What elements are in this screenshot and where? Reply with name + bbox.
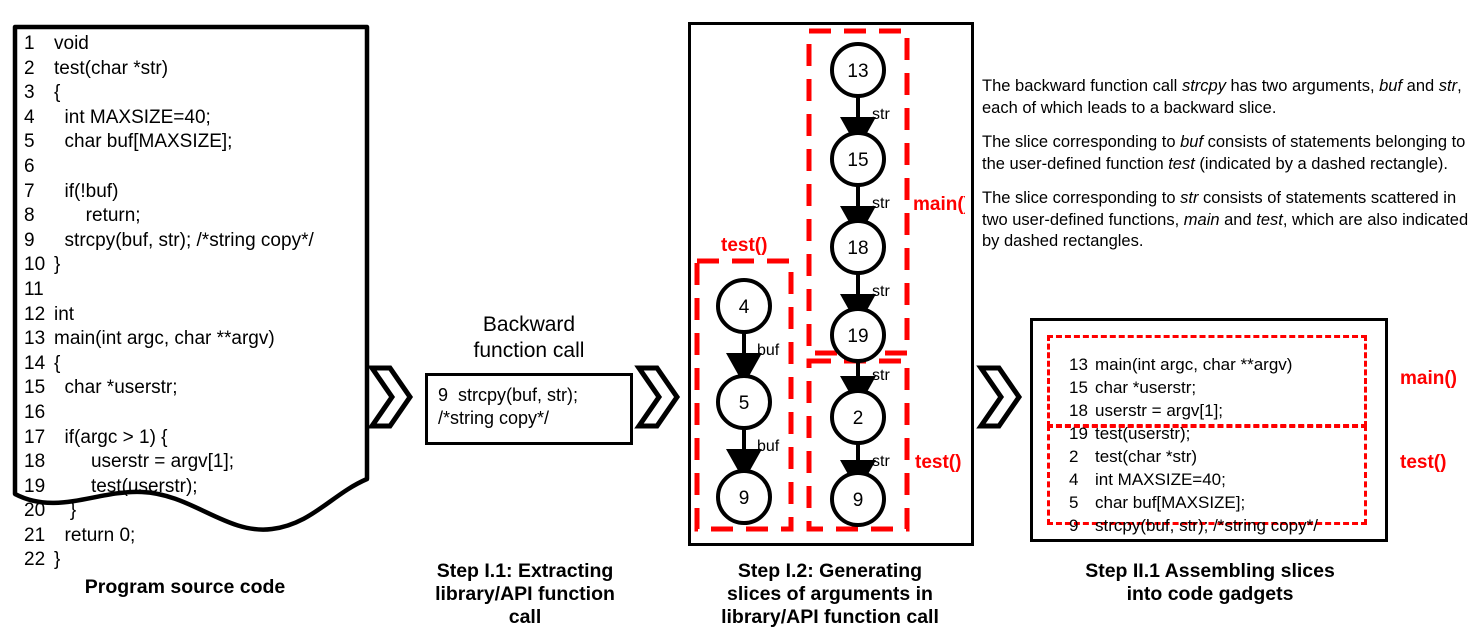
graph-node-5-label: 5 <box>739 393 750 414</box>
caption-program-source-code: Program source code <box>20 576 350 599</box>
source-code-line: 17 if(argc > 1) { <box>24 426 364 451</box>
gadget-line-text: char buf[MAXSIZE]; <box>1095 491 1245 514</box>
backward-function-call-title: Backward function call <box>400 312 658 364</box>
chevron-arrow-3 <box>975 362 1023 437</box>
slice-graph: 4 buf 5 buf 9 test() 13 str 15 str 18 st… <box>691 25 965 537</box>
source-code-line: 2test(char *str) <box>24 57 364 82</box>
source-code-line: 13main(int argc, char **argv) <box>24 327 364 352</box>
caption-step-2-1-line2: into code gadgets <box>1020 583 1400 606</box>
gadget-line-test: 2test(char *str) <box>1069 445 1369 468</box>
gadget-line-number: 9 <box>1069 514 1095 537</box>
gadget-line-main: 15char *userstr; <box>1069 376 1369 399</box>
source-line-text: } <box>54 499 364 524</box>
caption-step-1-1-line2: library/API function <box>385 583 665 606</box>
source-line-text: test(userstr); <box>54 475 364 500</box>
source-code-line: 3{ <box>24 81 364 106</box>
gadget-line-number: 4 <box>1069 468 1095 491</box>
explanation-paragraph-2: The slice corresponding to buf consists … <box>982 132 1474 175</box>
caption-step-1-2: Step I.2: Generating slices of arguments… <box>680 560 980 629</box>
source-line-number: 4 <box>24 106 54 131</box>
source-line-text: if(argc > 1) { <box>54 426 364 451</box>
source-line-number: 18 <box>24 450 54 475</box>
source-line-number: 12 <box>24 303 54 328</box>
code-gadget-rows: 13main(int argc, char **argv)15char *use… <box>1069 353 1369 537</box>
source-line-text: char *userstr; <box>54 376 364 401</box>
source-line-number: 20 <box>24 499 54 524</box>
gadget-line-text: strcpy(buf, str); /*string copy*/ <box>1095 514 1318 537</box>
chevron-arrow-2 <box>633 362 681 437</box>
source-line-text: } <box>54 548 364 573</box>
source-line-number: 5 <box>24 130 54 155</box>
graph-edge-label-str-1: str <box>872 106 890 123</box>
caption-step-1-1-line1: Step I.1: Extracting <box>385 560 665 583</box>
gadget-line-text: main(int argc, char **argv) <box>1095 353 1292 376</box>
gadget-line-number: 5 <box>1069 491 1095 514</box>
graph-tag-main-right: main() <box>913 194 965 215</box>
program-source-code-panel: 1void2test(char *str)3{4 int MAXSIZE=40;… <box>12 24 370 544</box>
source-line-number: 10 <box>24 253 54 278</box>
graph-edge-label-str-2: str <box>872 195 890 212</box>
source-line-number: 8 <box>24 204 54 229</box>
graph-node-15-label: 15 <box>847 150 868 171</box>
backward-function-call-box: 9 strcpy(buf, str); /*string copy*/ <box>425 373 633 445</box>
chevron-arrow-1 <box>366 362 414 437</box>
source-code-line: 14{ <box>24 352 364 377</box>
source-code-line: 6 <box>24 155 364 180</box>
source-line-number: 7 <box>24 180 54 205</box>
explanation-text-block: The backward function call strcpy has tw… <box>982 76 1474 266</box>
graph-tag-test-left: test() <box>721 235 767 256</box>
graph-node-9-buf-label: 9 <box>739 488 750 509</box>
gadget-line-number: 2 <box>1069 445 1095 468</box>
caption-step-1-2-line1: Step I.2: Generating <box>680 560 980 583</box>
source-code-line: 5 char buf[MAXSIZE]; <box>24 130 364 155</box>
graph-node-18-label: 18 <box>847 238 868 259</box>
source-line-number: 11 <box>24 278 54 303</box>
source-code-line: 10} <box>24 253 364 278</box>
source-line-text: if(!buf) <box>54 180 364 205</box>
source-line-number: 14 <box>24 352 54 377</box>
source-line-number: 15 <box>24 376 54 401</box>
source-line-text: char buf[MAXSIZE]; <box>54 130 364 155</box>
graph-edge-label-str-5: str <box>872 453 890 470</box>
gadget-line-number: 15 <box>1069 376 1095 399</box>
source-code-line: 20 } <box>24 499 364 524</box>
source-code-line: 4 int MAXSIZE=40; <box>24 106 364 131</box>
source-line-text: strcpy(buf, str); /*string copy*/ <box>54 229 364 254</box>
graph-node-4-label: 4 <box>739 297 750 318</box>
gadget-line-test: 9strcpy(buf, str); /*string copy*/ <box>1069 514 1369 537</box>
source-code-line: 7 if(!buf) <box>24 180 364 205</box>
graph-tag-test-right: test() <box>915 452 961 473</box>
source-line-text <box>54 278 364 303</box>
source-code-line: 8 return; <box>24 204 364 229</box>
explanation-paragraph-1: The backward function call strcpy has tw… <box>982 76 1474 119</box>
gadget-line-test: 4int MAXSIZE=40; <box>1069 468 1369 491</box>
graph-edge-label-buf-1: buf <box>757 342 780 359</box>
gadget-line-number: 18 <box>1069 399 1095 422</box>
code-gadget-panel: 13main(int argc, char **argv)15char *use… <box>1030 318 1388 542</box>
graph-node-19-label: 19 <box>847 326 868 347</box>
source-code-line: 16 <box>24 401 364 426</box>
gadget-line-text: int MAXSIZE=40; <box>1095 468 1226 491</box>
graph-node-2-label: 2 <box>853 408 864 429</box>
source-line-number: 16 <box>24 401 54 426</box>
source-line-number: 13 <box>24 327 54 352</box>
gadget-line-main: 19test(userstr); <box>1069 422 1369 445</box>
source-line-number: 2 <box>24 57 54 82</box>
graph-node-13-label: 13 <box>847 61 868 82</box>
source-line-text: test(char *str) <box>54 57 364 82</box>
gadget-line-text: userstr = argv[1]; <box>1095 399 1223 422</box>
gadget-tag-main: main() <box>1400 368 1457 390</box>
source-line-number: 6 <box>24 155 54 180</box>
source-code-line: 22} <box>24 548 364 573</box>
gadget-line-text: char *userstr; <box>1095 376 1196 399</box>
source-line-text: { <box>54 352 364 377</box>
gadget-line-text: test(char *str) <box>1095 445 1197 468</box>
gadget-tag-test: test() <box>1400 452 1446 474</box>
source-code-line: 1void <box>24 32 364 57</box>
gadget-line-text: test(userstr); <box>1095 422 1190 445</box>
slice-graph-panel: 4 buf 5 buf 9 test() 13 str 15 str 18 st… <box>688 22 974 546</box>
gadget-line-number: 13 <box>1069 353 1095 376</box>
source-line-text <box>54 155 364 180</box>
gadget-line-test: 5char buf[MAXSIZE]; <box>1069 491 1369 514</box>
source-code-listing: 1void2test(char *str)3{4 int MAXSIZE=40;… <box>24 32 364 573</box>
source-line-text: { <box>54 81 364 106</box>
explanation-paragraph-3: The slice corresponding to str consists … <box>982 188 1474 253</box>
source-code-line: 18 userstr = argv[1]; <box>24 450 364 475</box>
gadget-line-number: 19 <box>1069 422 1095 445</box>
graph-node-9-str-label: 9 <box>853 490 864 511</box>
source-code-line: 11 <box>24 278 364 303</box>
source-line-number: 1 <box>24 32 54 57</box>
source-code-line: 12int <box>24 303 364 328</box>
bfc-code-line2: /*string copy*/ <box>428 407 630 430</box>
graph-edge-label-buf-2: buf <box>757 438 780 455</box>
caption-step-2-1: Step II.1 Assembling slices into code ga… <box>1020 560 1400 606</box>
source-line-text: userstr = argv[1]; <box>54 450 364 475</box>
source-code-line: 19 test(userstr); <box>24 475 364 500</box>
source-line-text: return; <box>54 204 364 229</box>
graph-edge-label-str-4: str <box>872 367 890 384</box>
source-line-text: return 0; <box>54 524 364 549</box>
caption-step-1-2-line2: slices of arguments in <box>680 583 980 606</box>
caption-step-1-1: Step I.1: Extracting library/API functio… <box>385 560 665 629</box>
source-code-line: 21 return 0; <box>24 524 364 549</box>
source-line-number: 17 <box>24 426 54 451</box>
source-code-line: 9 strcpy(buf, str); /*string copy*/ <box>24 229 364 254</box>
source-line-text: main(int argc, char **argv) <box>54 327 364 352</box>
source-line-number: 3 <box>24 81 54 106</box>
source-line-text: int MAXSIZE=40; <box>54 106 364 131</box>
source-line-number: 9 <box>24 229 54 254</box>
source-line-number: 19 <box>24 475 54 500</box>
gadget-line-main: 18userstr = argv[1]; <box>1069 399 1369 422</box>
gadget-line-main: 13main(int argc, char **argv) <box>1069 353 1369 376</box>
caption-step-2-1-line1: Step II.1 Assembling slices <box>1020 560 1400 583</box>
source-line-number: 21 <box>24 524 54 549</box>
bfc-title-line2: function call <box>400 338 658 364</box>
source-line-text: } <box>54 253 364 278</box>
source-line-text: int <box>54 303 364 328</box>
bfc-code-line1: 9 strcpy(buf, str); <box>428 384 630 407</box>
source-line-text <box>54 401 364 426</box>
source-line-text: void <box>54 32 364 57</box>
graph-edge-label-str-3: str <box>872 283 890 300</box>
source-code-line: 15 char *userstr; <box>24 376 364 401</box>
source-line-number: 22 <box>24 548 54 573</box>
code-gadget-inner: 13main(int argc, char **argv)15char *use… <box>1047 335 1367 525</box>
bfc-title-line1: Backward <box>400 312 658 338</box>
